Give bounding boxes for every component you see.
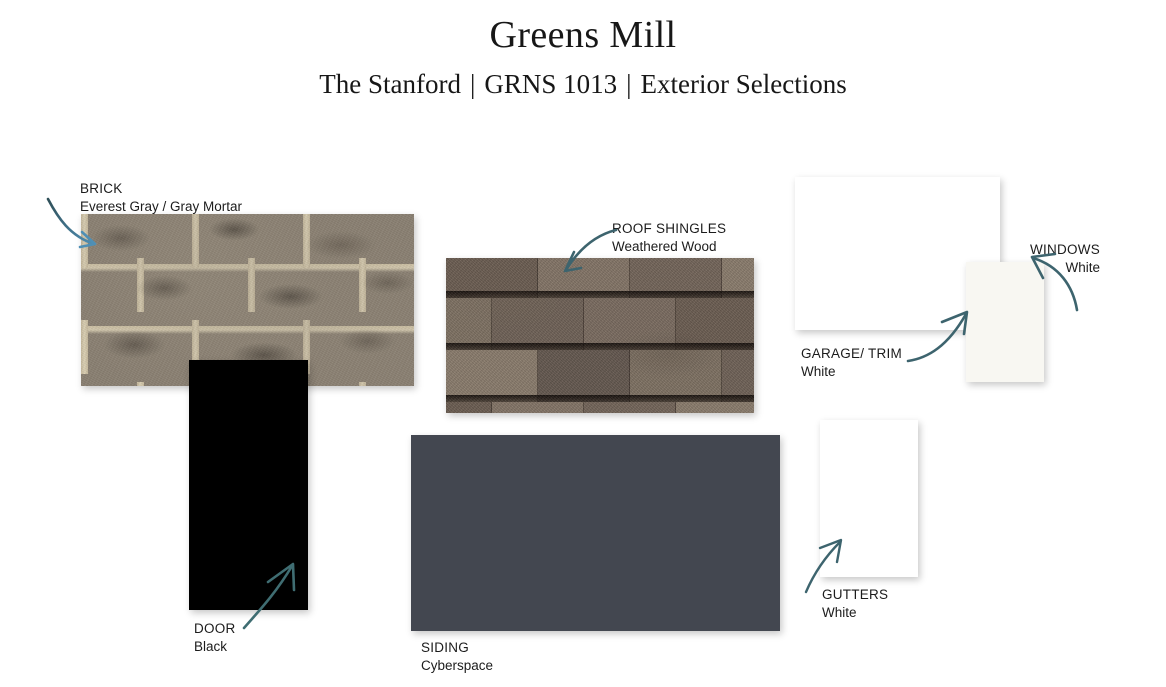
label-gutters-value: White bbox=[822, 604, 888, 622]
swatch-door bbox=[189, 360, 308, 610]
swatch-windows bbox=[966, 262, 1044, 382]
label-siding-name: SIDING bbox=[421, 639, 493, 657]
label-garage-trim-value: White bbox=[801, 363, 902, 381]
page-title: Greens Mill bbox=[0, 14, 1166, 58]
label-roof-shingles-name: ROOF SHINGLES bbox=[612, 220, 726, 238]
label-garage-trim-name: GARAGE/ TRIM bbox=[801, 345, 902, 363]
label-roof-shingles: ROOF SHINGLES Weathered Wood bbox=[612, 220, 726, 255]
label-roof-shingles-value: Weathered Wood bbox=[612, 238, 726, 256]
swatch-roof-shingles bbox=[446, 258, 754, 413]
subtitle-section: Exterior Selections bbox=[641, 69, 847, 99]
subtitle-separator-2: | bbox=[617, 69, 640, 99]
label-door: DOOR Black bbox=[194, 620, 236, 655]
label-windows-value: White bbox=[1030, 259, 1100, 277]
swatch-siding bbox=[411, 435, 780, 631]
subtitle-lot-code: GRNS 1013 bbox=[484, 69, 617, 99]
swatch-gutters bbox=[820, 420, 918, 577]
label-windows-name: WINDOWS bbox=[1030, 241, 1100, 259]
shingle-granule-overlay bbox=[446, 258, 754, 413]
label-door-value: Black bbox=[194, 638, 236, 656]
label-brick-name: BRICK bbox=[80, 180, 242, 198]
label-brick-value: Everest Gray / Gray Mortar bbox=[80, 198, 242, 216]
label-gutters-name: GUTTERS bbox=[822, 586, 888, 604]
label-brick: BRICK Everest Gray / Gray Mortar bbox=[80, 180, 242, 215]
label-windows: WINDOWS White bbox=[1030, 241, 1100, 276]
label-gutters: GUTTERS White bbox=[822, 586, 888, 621]
label-garage-trim: GARAGE/ TRIM White bbox=[801, 345, 902, 380]
label-door-name: DOOR bbox=[194, 620, 236, 638]
subtitle-separator-1: | bbox=[461, 69, 484, 99]
label-siding: SIDING Cyberspace bbox=[421, 639, 493, 674]
subtitle-plan-name: The Stanford bbox=[319, 69, 461, 99]
page-header: Greens Mill The Stanford|GRNS 1013|Exter… bbox=[0, 0, 1166, 101]
page-subtitle: The Stanford|GRNS 1013|Exterior Selectio… bbox=[0, 68, 1166, 102]
label-siding-value: Cyberspace bbox=[421, 657, 493, 675]
